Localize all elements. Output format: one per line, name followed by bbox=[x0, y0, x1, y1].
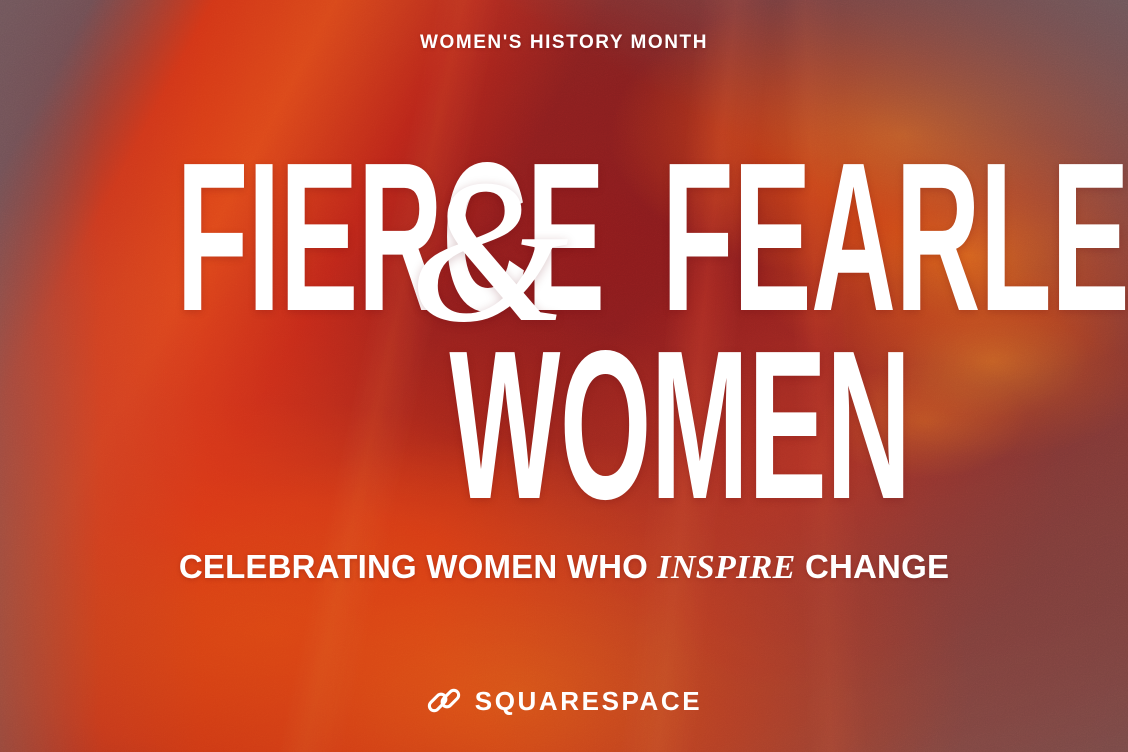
subtitle: CELEBRATING WOMEN WHO INSPIRE CHANGE bbox=[0, 550, 1128, 585]
subtitle-text-after: CHANGE bbox=[796, 548, 950, 585]
brand-name-label: SQUARESPACE bbox=[475, 688, 703, 714]
poster-content: WOMEN'S HISTORY MONTH FIERCE & FEARLESS … bbox=[0, 0, 1128, 752]
eyebrow-label: WOMEN'S HISTORY MONTH bbox=[0, 33, 1128, 52]
subtitle-text-before: CELEBRATING WOMEN WHO bbox=[179, 548, 658, 585]
headline-word-fierce: FIERCE bbox=[176, 152, 349, 322]
headline-word-fearless: FEARLESS bbox=[662, 152, 918, 322]
page-title: FIERCE & FEARLESS WOMEN bbox=[0, 152, 1128, 510]
brand-lockup: SQUARESPACE bbox=[0, 687, 1128, 714]
poster-canvas: WOMEN'S HISTORY MONTH FIERCE & FEARLESS … bbox=[0, 0, 1128, 752]
subtitle-emphasis-inspire: INSPIRE bbox=[657, 549, 795, 586]
headline-line-1: FIERCE & FEARLESS bbox=[0, 152, 1128, 324]
headline-line-2: WOMEN bbox=[0, 340, 1128, 510]
squarespace-logo-icon bbox=[426, 687, 462, 714]
headline-word-women: WOMEN bbox=[449, 340, 679, 510]
